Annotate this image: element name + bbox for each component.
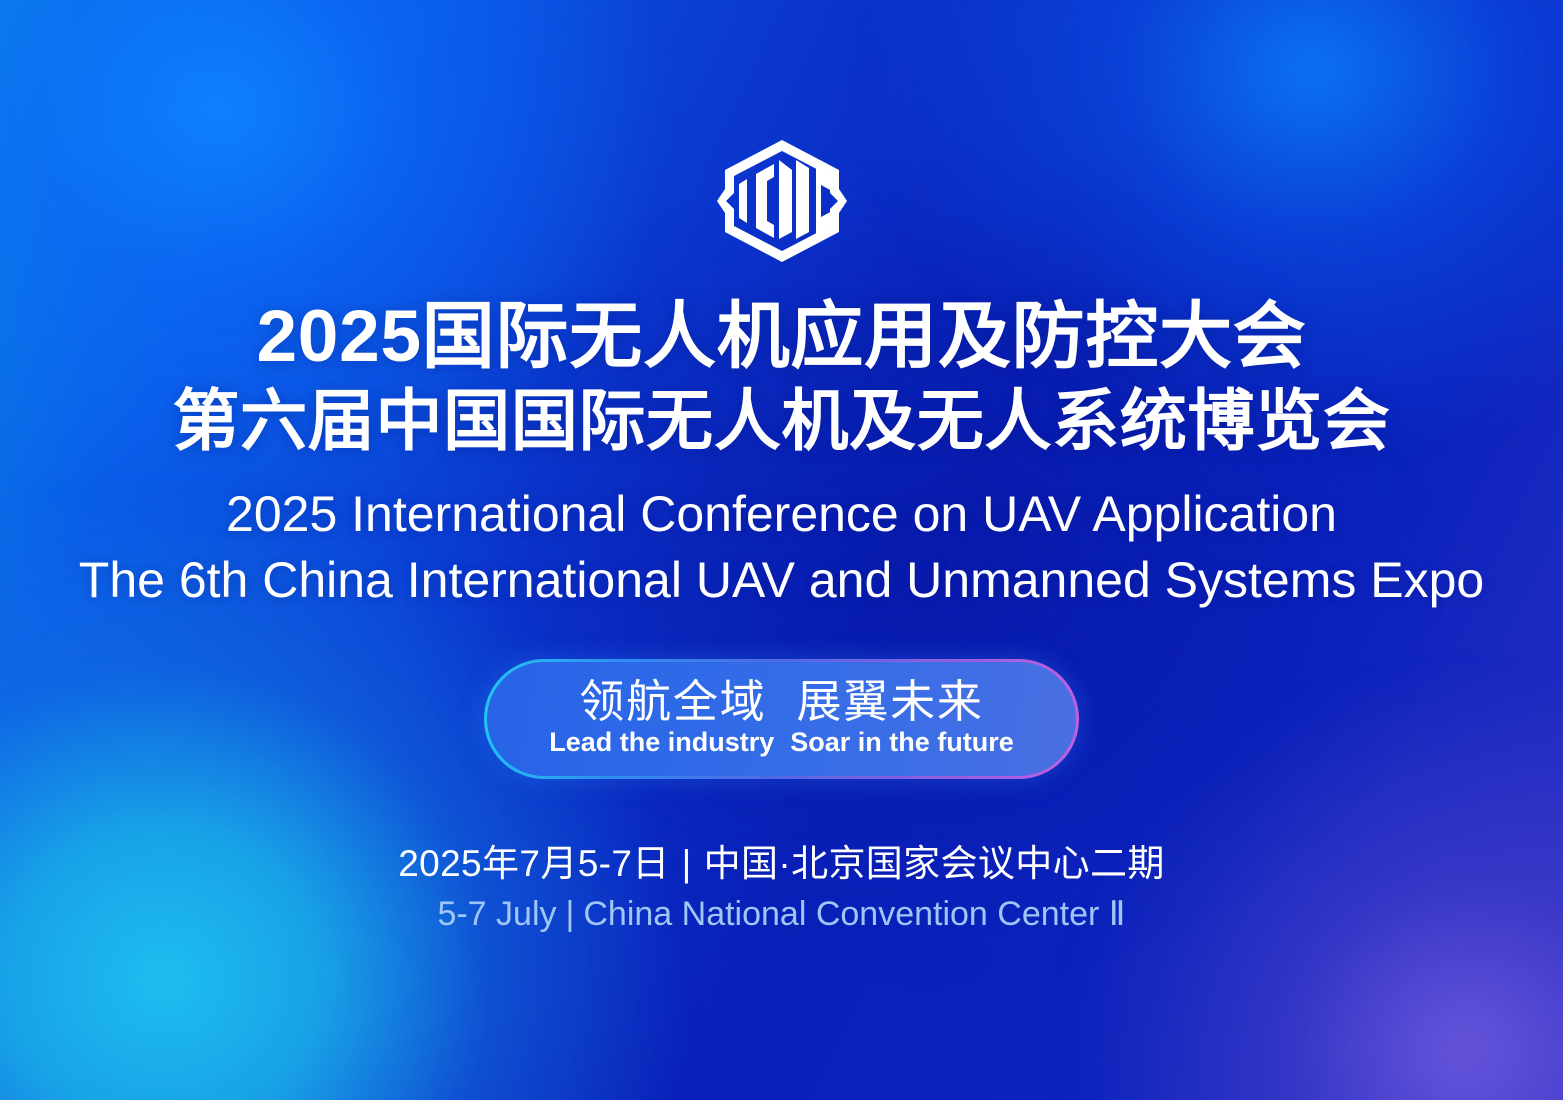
conference-title-chinese-line-1: 2025国际无人机应用及防控大会 (256, 300, 1306, 374)
event-venue-chinese: 中国·北京国家会议中心二期 (704, 843, 1165, 884)
event-meta-separator-english: | (557, 895, 584, 933)
slogan-chinese-part-2: 展翼未来 (796, 676, 983, 727)
poster-content: 2025国际无人机应用及防控大会 第六届中国国际无人机及无人系统博览会 2025… (0, 0, 1563, 1100)
event-meta-english: 5-7 July|China National Convention Cente… (437, 893, 1125, 936)
slogan-chinese: 领航全域展翼未来 (579, 678, 983, 727)
conference-poster: 2025国际无人机应用及防控大会 第六届中国国际无人机及无人系统博览会 2025… (0, 0, 1563, 1100)
slogan-english: Lead the industrySoar in the future (549, 728, 1014, 758)
conference-title-english-line-1: 2025 International Conference on UAV App… (226, 487, 1337, 541)
conference-title-english-line-2: The 6th China International UAV and Unma… (79, 553, 1484, 607)
slogan-english-part-1: Lead the industry (549, 727, 774, 757)
event-meta: 2025年7月5-7日|中国·北京国家会议中心二期 5-7 July|China… (398, 841, 1165, 936)
slogan-badge-inner: 领航全域展翼未来 Lead the industrySoar in the fu… (487, 662, 1076, 776)
slogan-badge: 领航全域展翼未来 Lead the industrySoar in the fu… (484, 659, 1079, 779)
event-date-chinese: 2025年7月5-7日 (398, 843, 669, 884)
conference-title-chinese-line-2: 第六届中国国际无人机及无人系统博览会 (172, 388, 1390, 456)
cuc-hexagon-logo-icon (716, 140, 848, 262)
event-meta-separator-chinese: | (670, 843, 704, 884)
event-date-english: 5-7 July (437, 895, 556, 933)
slogan-chinese-part-1: 领航全域 (579, 676, 766, 727)
slogan-english-part-2: Soar in the future (790, 727, 1014, 757)
event-venue-english: China National Convention Center Ⅱ (583, 895, 1125, 933)
event-meta-chinese: 2025年7月5-7日|中国·北京国家会议中心二期 (398, 841, 1165, 887)
